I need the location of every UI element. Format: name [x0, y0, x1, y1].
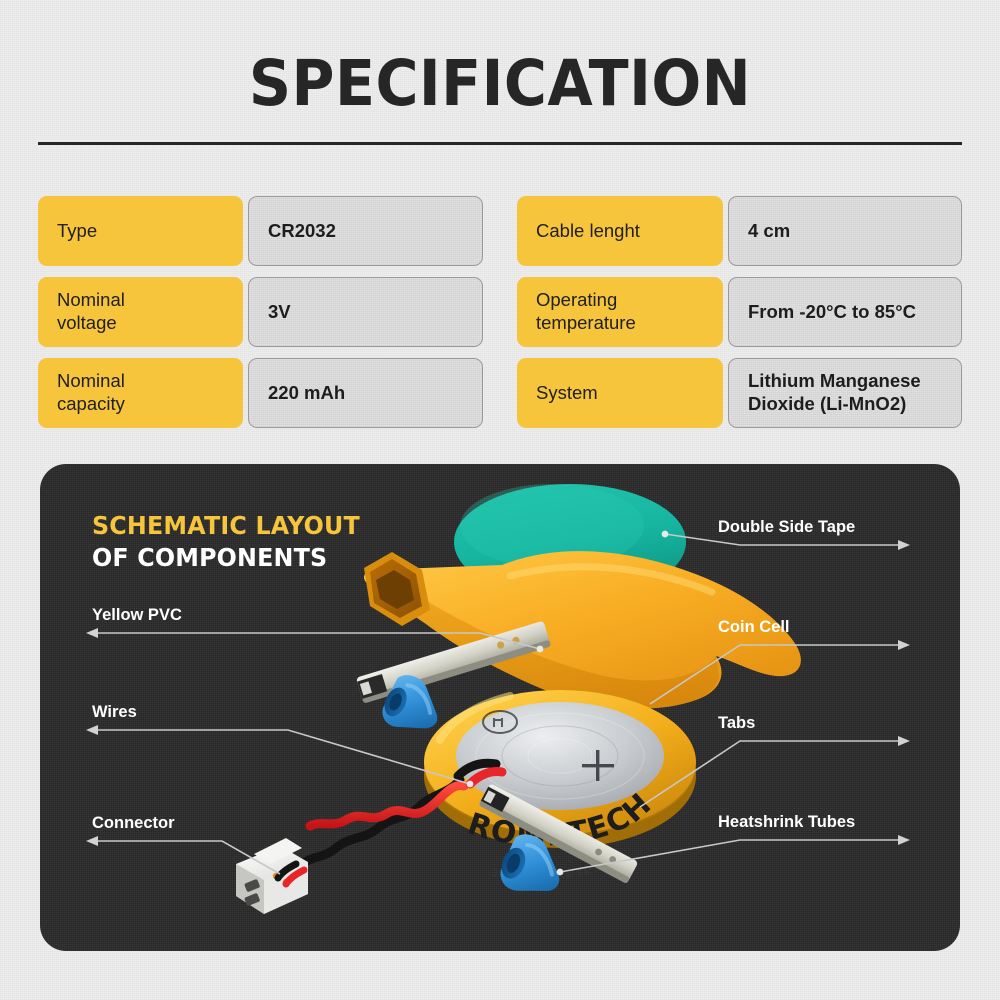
- spec-row: Type CR2032: [38, 196, 483, 266]
- spec-row: Nominalcapacity 220 mAh: [38, 358, 483, 428]
- callout-coin-cell: Coin Cell: [718, 618, 790, 637]
- specification-table: Type CR2032 Nominalvoltage 3V Nominalcap…: [38, 196, 962, 428]
- schematic-heading-line2: OF COMPONENTS: [92, 542, 360, 574]
- spec-value: From -20°C to 85°C: [728, 277, 962, 347]
- page-title: SPECIFICATION: [35, 47, 965, 120]
- spec-row: Operatingtemperature From -20°C to 85°C: [517, 277, 962, 347]
- spec-value: 220 mAh: [248, 358, 483, 428]
- spec-label: Operatingtemperature: [517, 277, 723, 347]
- spec-row: Cable lenght 4 cm: [517, 196, 962, 266]
- spec-label: Nominalvoltage: [38, 277, 243, 347]
- spec-label: Cable lenght: [517, 196, 723, 266]
- spec-column-left: Type CR2032 Nominalvoltage 3V Nominalcap…: [38, 196, 483, 428]
- schematic-heading-line1: SCHEMATIC LAYOUT: [92, 510, 360, 542]
- schematic-panel: SCHEMATIC LAYOUT OF COMPONENTS: [40, 464, 960, 951]
- callout-wires: Wires: [92, 703, 137, 722]
- specification-infographic: SPECIFICATION Type CR2032 Nominalvoltage…: [0, 0, 1000, 1000]
- spec-value: 3V: [248, 277, 483, 347]
- spec-row: Nominalvoltage 3V: [38, 277, 483, 347]
- leader-heatshrink-tubes: [560, 840, 902, 872]
- leader-wires: [94, 730, 470, 784]
- spec-row: System Lithium ManganeseDioxide (Li-MnO2…: [517, 358, 962, 428]
- title-divider: [38, 142, 962, 145]
- leader-yellow-pvc: [94, 633, 540, 649]
- schematic-heading: SCHEMATIC LAYOUT OF COMPONENTS: [92, 510, 360, 574]
- spec-value: Lithium ManganeseDioxide (Li-MnO2): [728, 358, 962, 428]
- leader-tabs: [640, 741, 902, 807]
- spec-label: Nominalcapacity: [38, 358, 243, 428]
- callout-double-side-tape: Double Side Tape: [718, 518, 855, 537]
- spec-value: 4 cm: [728, 196, 962, 266]
- callout-connector: Connector: [92, 814, 175, 833]
- callout-yellow-pvc: Yellow PVC: [92, 606, 182, 625]
- spec-label: Type: [38, 196, 243, 266]
- spec-column-right: Cable lenght 4 cm Operatingtemperature F…: [517, 196, 962, 428]
- leader-connector: [94, 841, 280, 874]
- spec-label: System: [517, 358, 723, 428]
- spec-value: CR2032: [248, 196, 483, 266]
- leader-coin-cell: [650, 645, 902, 704]
- callout-tabs: Tabs: [718, 714, 755, 733]
- callout-heatshrink-tubes: Heatshrink Tubes: [718, 813, 855, 832]
